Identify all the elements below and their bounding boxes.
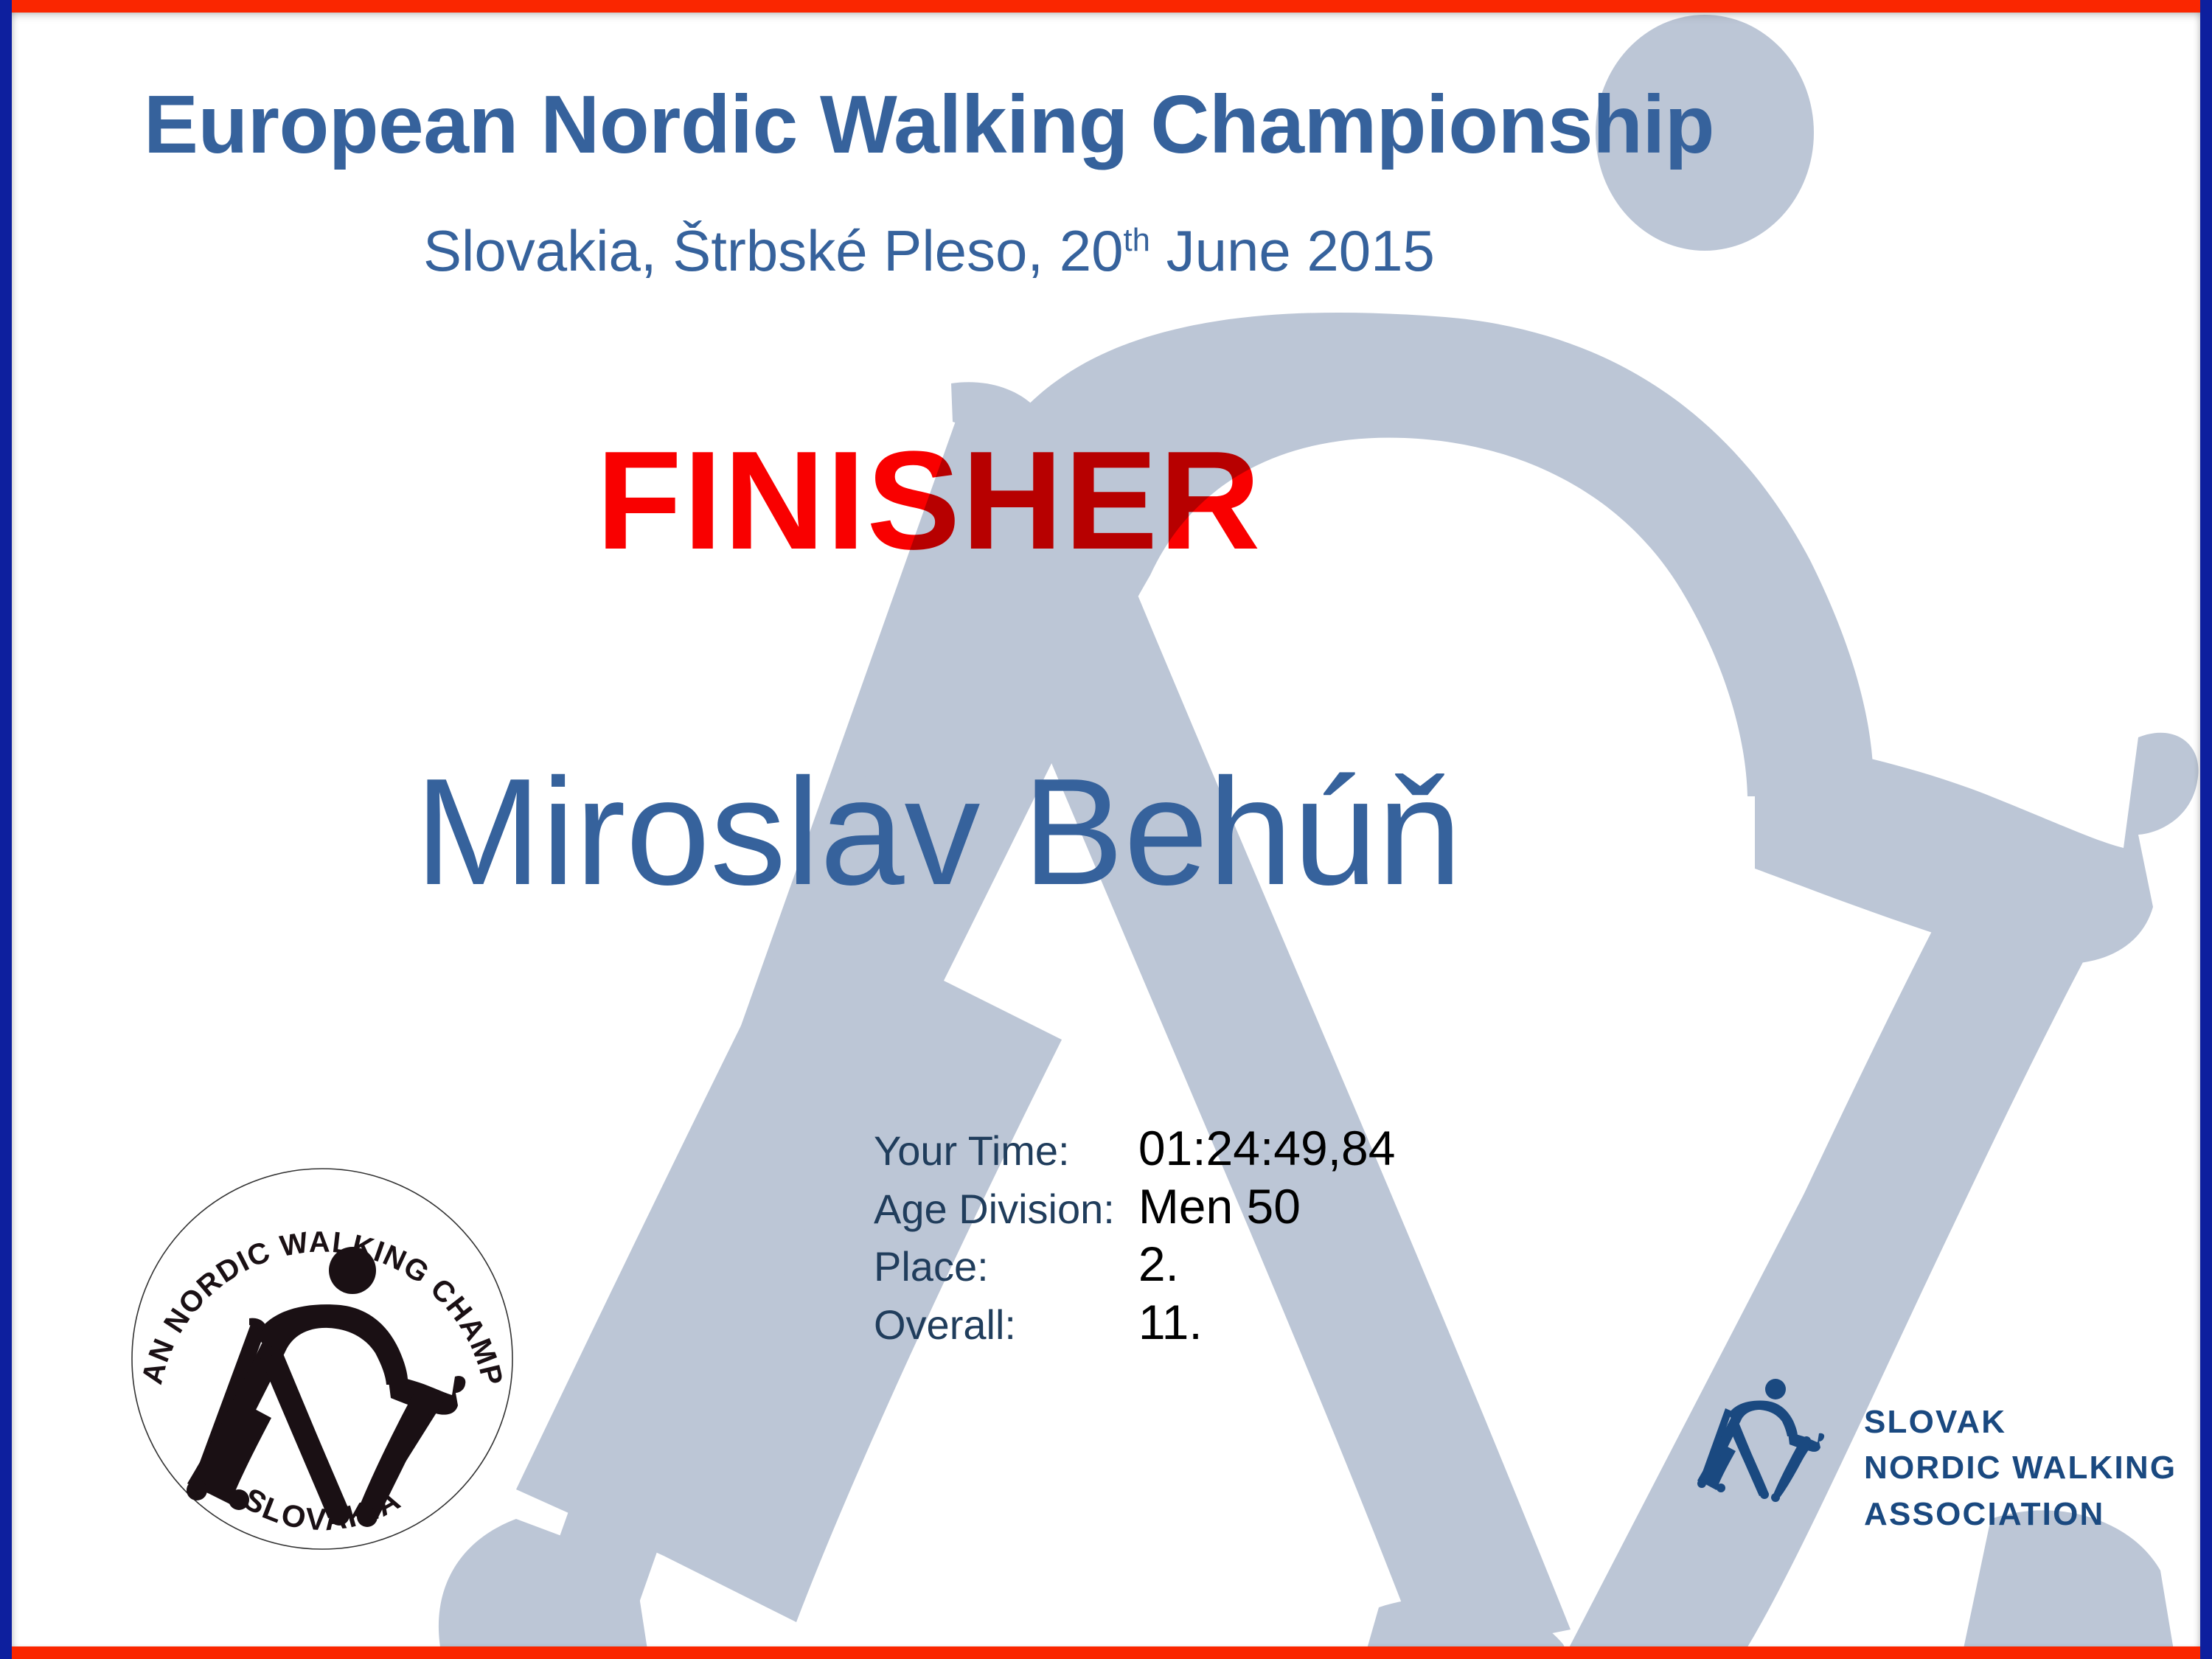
association-line-1: SLOVAK <box>1864 1399 2177 1445</box>
association-line-3: ASSOCIATION <box>1864 1492 2177 1537</box>
event-date-rest: June 2015 <box>1150 218 1435 283</box>
frame-bottom-red-bar <box>0 1646 2212 1659</box>
athlete-name-text: Miroslav Behúň <box>415 747 1462 917</box>
table-row: Your Time: 01:24:49,84 <box>874 1119 1395 1178</box>
event-subtitle: Slovakia, Štrbské Pleso, 20th June 2015 <box>0 218 2212 285</box>
event-logo: EUROPEAN NORDIC WALKING CHAMPIONSHIP SLO… <box>127 1164 518 1554</box>
status-text: FINISHER <box>597 422 1262 579</box>
result-label-place: Place: <box>874 1235 1138 1293</box>
date-ordinal-suffix: th <box>1124 222 1150 258</box>
association-line-2: NORDIC WALKING <box>1864 1445 2177 1491</box>
status-badge: FINISHER <box>0 420 2212 581</box>
result-label-age-division: Age Division: <box>874 1178 1138 1236</box>
result-value-your-time: 01:24:49,84 <box>1138 1119 1396 1178</box>
athlete-name: Miroslav Behúň <box>0 745 2212 919</box>
result-label-your-time: Your Time: <box>874 1119 1138 1178</box>
results-table: Your Time: 01:24:49,84 Age Division: Men… <box>874 1119 1395 1351</box>
frame-top-red-bar <box>0 0 2212 13</box>
result-value-place: 2. <box>1138 1235 1396 1293</box>
result-value-age-division: Men 50 <box>1138 1178 1396 1236</box>
table-row: Place: 2. <box>874 1235 1395 1293</box>
certificate-page: European Nordic Walking Championship Slo… <box>0 0 2212 1659</box>
results-block: Your Time: 01:24:49,84 Age Division: Men… <box>874 1119 1395 1351</box>
table-row: Age Division: Men 50 <box>874 1178 1395 1236</box>
result-label-overall: Overall: <box>874 1293 1138 1352</box>
table-row: Overall: 11. <box>874 1293 1395 1352</box>
association-name: SLOVAK NORDIC WALKING ASSOCIATION <box>1864 1399 2177 1537</box>
association-walker-icon <box>1696 1373 1832 1531</box>
association-logo: SLOVAK NORDIC WALKING ASSOCIATION <box>1696 1373 2124 1565</box>
event-location-date: Slovakia, Štrbské Pleso, 20 <box>423 218 1123 283</box>
page-title-text: European Nordic Walking Championship <box>144 79 1714 170</box>
page-title: European Nordic Walking Championship <box>0 77 2212 172</box>
result-value-overall: 11. <box>1138 1293 1396 1352</box>
frame-right-blue-bar <box>2200 0 2212 1659</box>
frame-left-blue-bar <box>0 0 12 1659</box>
